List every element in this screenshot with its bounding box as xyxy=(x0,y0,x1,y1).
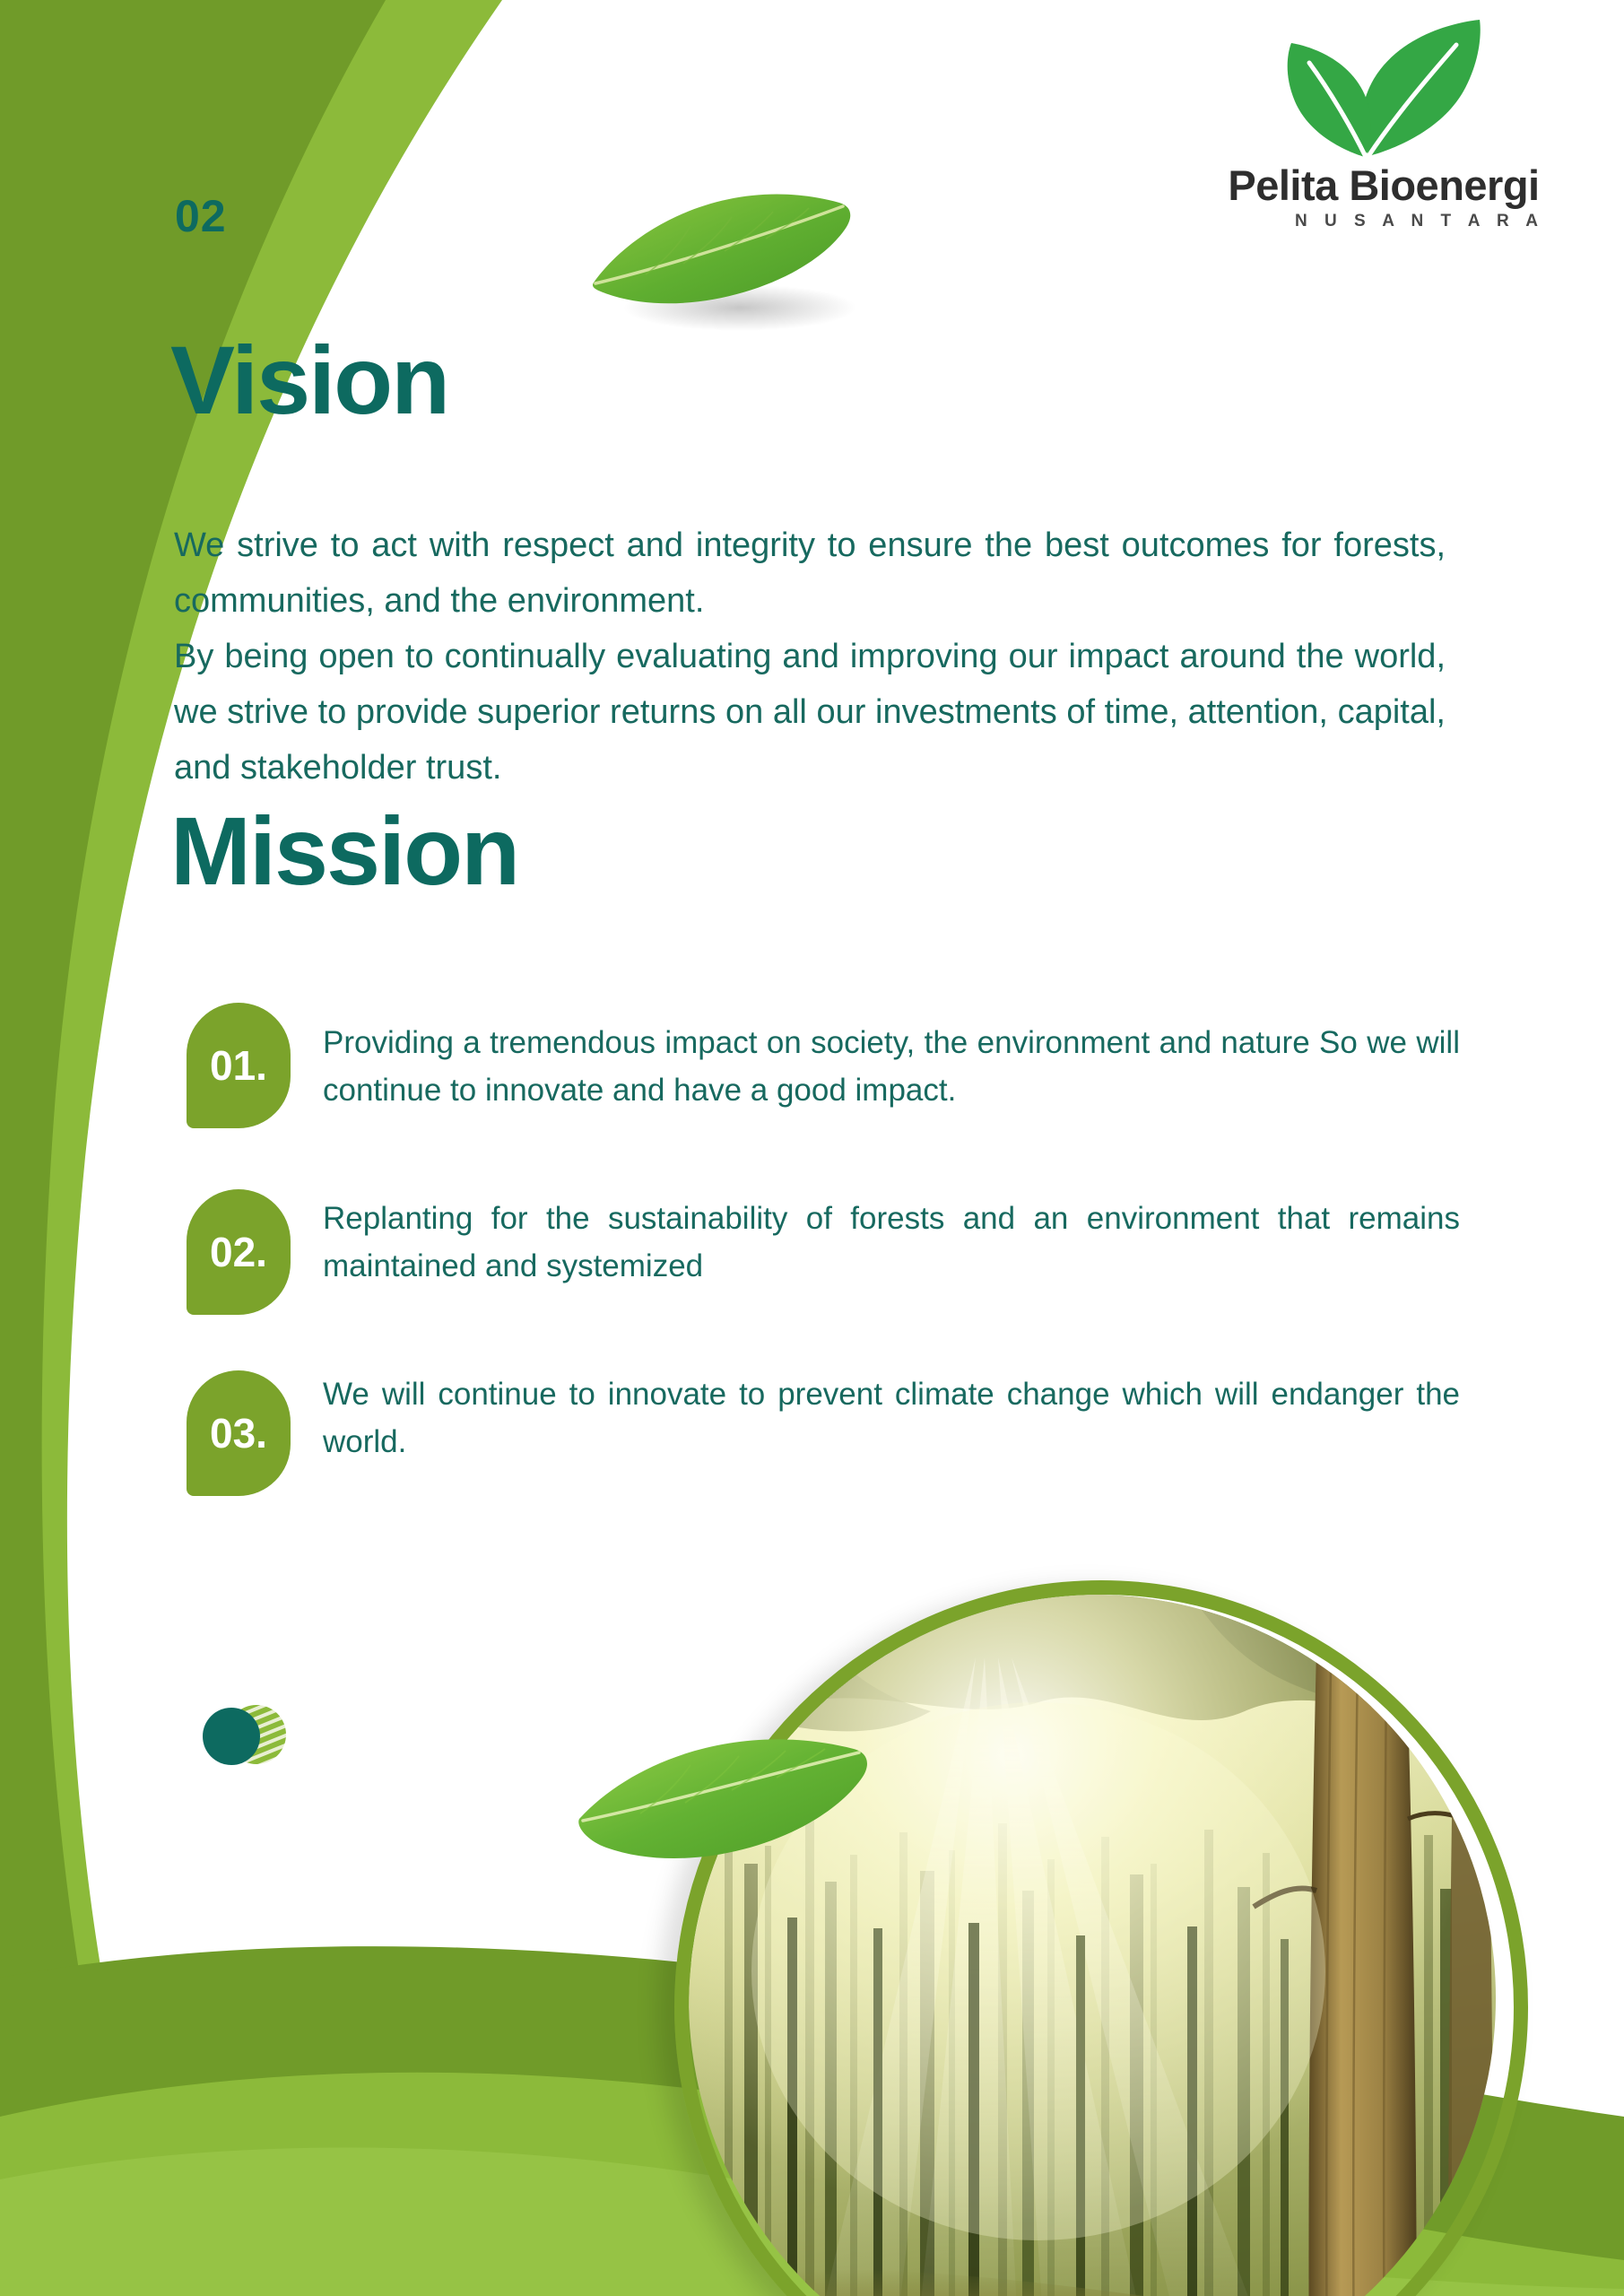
brand-name: Pelita Bioenergi xyxy=(1195,164,1572,206)
green-leaf-icon xyxy=(583,160,879,339)
mission-item: 03. We will continue to innovate to prev… xyxy=(187,1354,1460,1491)
mission-number-badge: 01. xyxy=(187,1003,291,1128)
circle-stripe-mark-icon xyxy=(195,1702,294,1767)
mission-number-badge: 02. xyxy=(187,1189,291,1315)
forest-photo-circle xyxy=(674,1580,1528,2296)
presentation-slide: Pelita Bioenergi N U S A N T A R A 02 xyxy=(0,0,1624,2296)
mission-item: 01. Providing a tremendous impact on soc… xyxy=(187,1003,1460,1139)
vision-paragraph-1: We strive to act with respect and integr… xyxy=(174,518,1446,630)
mission-list: 01. Providing a tremendous impact on soc… xyxy=(187,1003,1460,1530)
mission-item-text: Replanting for the sustainability of for… xyxy=(323,1178,1460,1290)
vision-heading: Vision xyxy=(170,332,448,429)
page-number: 02 xyxy=(175,190,227,242)
mission-number-badge: 03. xyxy=(187,1370,291,1496)
vision-paragraph-2: By being open to continually evaluating … xyxy=(174,630,1446,796)
brand-tagline: N U S A N T A R A xyxy=(1195,212,1572,231)
mission-heading: Mission xyxy=(170,803,518,900)
sunlit-pine-forest-image xyxy=(689,1595,1496,2296)
mission-item-text: We will continue to innovate to prevent … xyxy=(323,1354,1460,1465)
mission-item: 02. Replanting for the sustainability of… xyxy=(187,1178,1460,1315)
two-leaves-icon xyxy=(1272,13,1496,170)
brand-logo: Pelita Bioenergi N U S A N T A R A xyxy=(1195,13,1572,231)
green-leaf-icon xyxy=(574,1713,888,1906)
mission-item-text: Providing a tremendous impact on society… xyxy=(323,1003,1460,1114)
vision-body: We strive to act with respect and integr… xyxy=(174,518,1446,796)
